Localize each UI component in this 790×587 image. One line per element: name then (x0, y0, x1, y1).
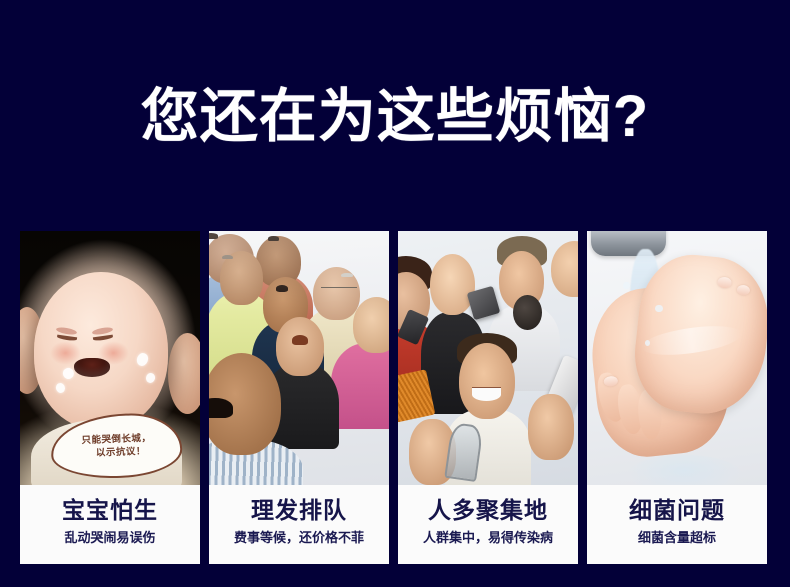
card-title: 理发排队 (251, 496, 347, 524)
photo-overlay (209, 231, 389, 485)
hand-shape (168, 333, 200, 414)
list-item[interactable]: 细菌问题 细菌含量超标 (587, 231, 767, 564)
card-title: 宝宝怕生 (62, 496, 158, 524)
baby-head-shape (34, 272, 167, 429)
hand-shape (528, 394, 575, 460)
card-subtitle: 费事等候，还价格不菲 (234, 528, 364, 547)
washing-hands-photo (587, 231, 767, 485)
speech-bubble-line-2: 以示抗议！ (95, 445, 145, 460)
list-item[interactable]: 只能哭倒长城， 以示抗议！ 宝宝怕生 乱动哭闹易误伤 (20, 231, 200, 564)
person-head-shape (430, 254, 475, 315)
card-caption: 宝宝怕生 乱动哭闹易误伤 (20, 485, 200, 564)
card-title: 人多聚集地 (428, 496, 548, 524)
fingernail-shape (718, 277, 733, 289)
crying-mouth-shape (74, 358, 110, 377)
crying-baby-photo: 只能哭倒长城， 以示抗议！ (20, 231, 200, 485)
card-caption: 人多聚集地 人群集中，易得传染病 (398, 485, 578, 564)
faucet-icon (591, 231, 667, 256)
card-subtitle: 细菌含量超标 (638, 528, 716, 547)
makeup-brush-icon (513, 295, 542, 331)
promo-banner: 您还在为这些烦恼? (0, 0, 790, 587)
fingernail-shape (736, 285, 750, 297)
card-subtitle: 乱动哭闹易误伤 (64, 528, 155, 547)
card-title: 细菌问题 (629, 496, 725, 524)
person-head-shape (459, 343, 515, 419)
list-item[interactable]: 人多聚集地 人群集中，易得传染病 (398, 231, 578, 564)
waiting-crowd-photo (209, 231, 389, 485)
card-caption: 理发排队 费事等候，还价格不菲 (209, 485, 389, 564)
hairstylists-group-photo (398, 231, 578, 485)
water-drop-icon (655, 305, 662, 313)
card-subtitle: 人群集中，易得传染病 (423, 528, 553, 547)
page-title: 您还在为这些烦恼? (0, 86, 790, 148)
card-caption: 细菌问题 细菌含量超标 (587, 485, 767, 564)
problem-card-list: 只能哭倒长城， 以示抗议！ 宝宝怕生 乱动哭闹易误伤 (20, 231, 770, 564)
smile-shape (472, 388, 501, 401)
list-item[interactable]: 理发排队 费事等候，还价格不菲 (209, 231, 389, 564)
